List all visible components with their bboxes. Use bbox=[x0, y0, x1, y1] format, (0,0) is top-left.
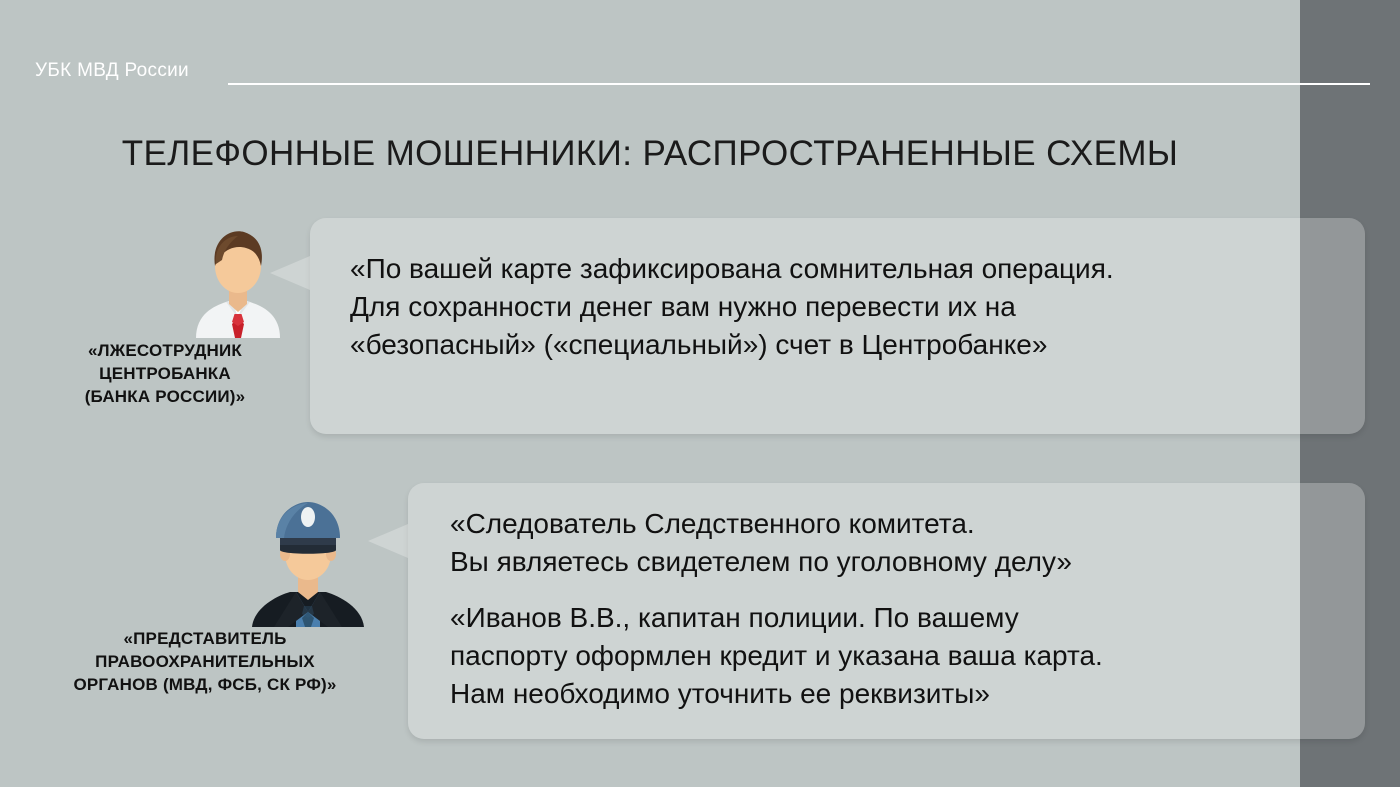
paragraph-spacer bbox=[450, 581, 1365, 599]
page-title: ТЕЛЕФОННЫЕ МОШЕННИКИ: РАСПРОСТРАНЕННЫЕ С… bbox=[0, 134, 1300, 174]
caption-fake-central-bank-employee: «ЛЖЕСОТРУДНИК ЦЕНТРОБАНКА (БАНКА РОССИИ)… bbox=[20, 340, 310, 409]
caption-fake-law-enforcement-representative: «ПРЕДСТАВИТЕЛЬ ПРАВООХРАНИТЕЛЬНЫХ ОРГАНО… bbox=[10, 628, 400, 697]
speech-bubble-1-text: «По вашей карте зафиксирована сомнительн… bbox=[350, 250, 1365, 364]
slide-canvas: УБК МВД России ТЕЛЕФОННЫЕ МОШЕННИКИ: РАС… bbox=[0, 0, 1400, 787]
header-organization-label: УБК МВД России bbox=[35, 60, 189, 82]
speech-bubble-1: «По вашей карте зафиксирована сомнительн… bbox=[310, 218, 1365, 434]
speech-bubble-2-tail bbox=[368, 524, 408, 558]
speech-bubble-2-text-part2: «Иванов В.В., капитан полиции. По вашему… bbox=[450, 599, 1365, 713]
speech-bubble-2: «Следователь Следственного комитета. Вы … bbox=[408, 483, 1365, 739]
speech-bubble-1-tail bbox=[270, 256, 310, 290]
header-rule bbox=[228, 83, 1370, 85]
speech-bubble-2-text-part1: «Следователь Следственного комитета. Вы … bbox=[450, 505, 1365, 581]
police-officer-avatar bbox=[238, 492, 378, 627]
